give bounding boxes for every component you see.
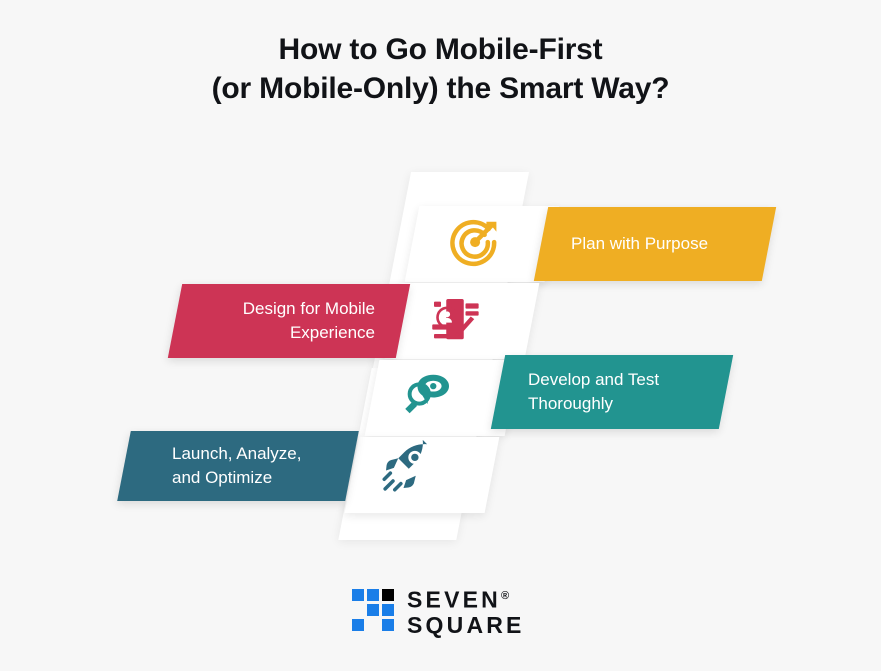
- logo-wordmark: SEVEN® SQUARE: [407, 584, 525, 638]
- step-label-develop-line1: Develop and Test: [528, 370, 659, 389]
- step-bar-design[interactable]: Design for Mobile Experience: [168, 284, 410, 358]
- logo-grid-cell: [367, 589, 379, 601]
- logo-word-seven-text: SEVEN: [407, 587, 501, 613]
- logo-grid-cell: [382, 619, 394, 631]
- logo-word-seven: SEVEN®: [407, 584, 525, 613]
- step-label-design-line1: Design for Mobile: [243, 299, 375, 318]
- rocket-icon: [375, 435, 439, 499]
- step-label-develop: Develop and Test Thoroughly: [498, 368, 726, 416]
- step-label-develop-line2: Thoroughly: [528, 394, 613, 413]
- process-diagram: Plan with Purpose Design for Mobile Expe…: [0, 0, 881, 671]
- step-bar-plan[interactable]: Plan with Purpose: [534, 207, 776, 281]
- target-arrow-icon: [444, 211, 508, 275]
- registered-mark: ®: [501, 590, 509, 602]
- step-bar-launch[interactable]: Launch, Analyze, and Optimize: [117, 431, 359, 501]
- logo-grid-cell: [382, 589, 394, 601]
- logo-word-square: SQUARE: [407, 613, 525, 638]
- step-label-design-line2: Experience: [290, 323, 375, 342]
- ux-design-icon: [423, 288, 487, 352]
- step-label-launch-line2: and Optimize: [172, 468, 272, 487]
- logo-grid-cell: [367, 604, 379, 616]
- magnifier-eye-icon: [396, 362, 460, 426]
- step-bar-develop[interactable]: Develop and Test Thoroughly: [491, 355, 733, 429]
- logo-grid-cell: [352, 619, 364, 631]
- step-label-design: Design for Mobile Experience: [175, 297, 403, 345]
- step-label-plan: Plan with Purpose: [541, 232, 769, 256]
- seven-square-logo: SEVEN® SQUARE: [352, 583, 532, 639]
- logo-grid-icon: [352, 589, 396, 633]
- logo-grid-cell: [382, 604, 394, 616]
- step-label-launch: Launch, Analyze, and Optimize: [124, 442, 352, 490]
- logo-grid-cell: [352, 589, 364, 601]
- step-label-launch-line1: Launch, Analyze,: [172, 444, 301, 463]
